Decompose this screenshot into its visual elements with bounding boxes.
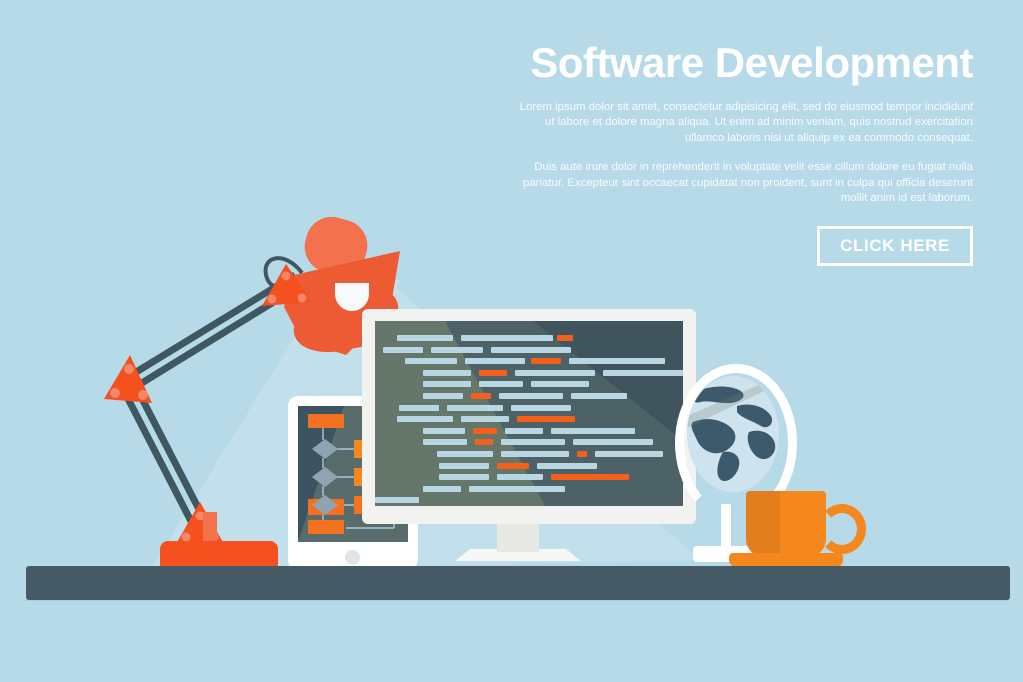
code-line-segment bbox=[461, 335, 553, 341]
code-line-segment bbox=[551, 474, 629, 480]
lamp-post bbox=[203, 512, 217, 544]
tablet-home-button[interactable] bbox=[345, 550, 360, 565]
code-line-segment bbox=[497, 474, 543, 480]
code-line-segment bbox=[383, 347, 423, 353]
hero-paragraph-2: Duis aute irure dolor in reprehenderit i… bbox=[518, 160, 973, 206]
lamp-joint-middle bbox=[100, 355, 170, 425]
code-line-segment bbox=[501, 439, 565, 445]
code-line-segment bbox=[577, 451, 587, 457]
banner-stage: Software Development Lorem ipsum dolor s… bbox=[0, 0, 1023, 682]
code-line-segment bbox=[501, 451, 569, 457]
code-line-segment bbox=[423, 381, 471, 387]
code-line-segment bbox=[491, 347, 571, 353]
code-line-segment bbox=[511, 405, 571, 411]
desk-surface bbox=[26, 566, 1010, 600]
code-line-segment bbox=[423, 370, 471, 376]
cup-saucer bbox=[729, 553, 843, 567]
code-line-segment bbox=[473, 428, 497, 434]
code-line-segment bbox=[475, 439, 493, 445]
code-line-segment bbox=[423, 428, 465, 434]
code-line-segment bbox=[517, 416, 575, 422]
code-lines bbox=[375, 321, 683, 506]
code-line-segment bbox=[399, 405, 439, 411]
code-line-segment bbox=[551, 428, 635, 434]
code-line-segment bbox=[439, 463, 489, 469]
code-line-segment bbox=[469, 486, 565, 492]
code-line-segment bbox=[531, 358, 561, 364]
code-line-segment bbox=[439, 474, 489, 480]
code-line-segment bbox=[423, 439, 467, 445]
code-line-segment bbox=[437, 451, 493, 457]
code-line-segment bbox=[497, 463, 529, 469]
code-line-segment bbox=[405, 358, 457, 364]
monitor-screen bbox=[375, 321, 683, 506]
code-line-segment bbox=[397, 335, 453, 341]
coffee-cup bbox=[746, 491, 826, 557]
click-here-button[interactable]: CLICK HERE bbox=[817, 226, 973, 266]
code-line-segment bbox=[423, 393, 463, 399]
monitor-neck bbox=[497, 524, 539, 552]
code-line-segment bbox=[499, 393, 563, 399]
code-line-segment bbox=[465, 358, 525, 364]
code-line-segment bbox=[375, 497, 419, 503]
cup-shadow bbox=[746, 491, 780, 557]
code-line-segment bbox=[447, 405, 503, 411]
code-line-segment bbox=[557, 335, 573, 341]
code-line-segment bbox=[479, 370, 507, 376]
lamp-joint-top bbox=[258, 262, 318, 322]
hero-text-block: Software Development Lorem ipsum dolor s… bbox=[518, 40, 973, 266]
code-line-segment bbox=[595, 451, 663, 457]
lamp-base bbox=[160, 541, 278, 567]
code-line-segment bbox=[505, 428, 543, 434]
code-line-segment bbox=[531, 381, 589, 387]
code-line-segment bbox=[479, 381, 523, 387]
desktop-monitor[interactable] bbox=[362, 309, 696, 524]
code-line-segment bbox=[573, 439, 653, 445]
code-line-segment bbox=[571, 393, 627, 399]
code-line-segment bbox=[569, 358, 665, 364]
code-line-segment bbox=[423, 486, 461, 492]
code-line-segment bbox=[397, 416, 453, 422]
code-line-segment bbox=[537, 463, 597, 469]
code-line-segment bbox=[431, 347, 483, 353]
page-title: Software Development bbox=[518, 40, 973, 86]
code-line-segment bbox=[461, 416, 509, 422]
code-line-segment bbox=[515, 370, 595, 376]
code-line-segment bbox=[471, 393, 491, 399]
hero-paragraph-1: Lorem ipsum dolor sit amet, consectetur … bbox=[518, 100, 973, 146]
